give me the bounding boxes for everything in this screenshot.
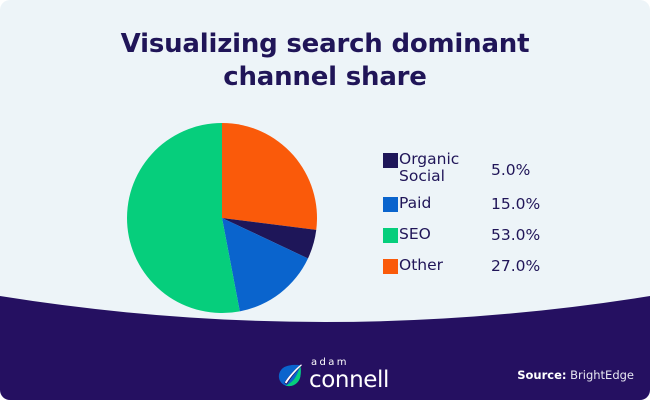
legend-item-other[interactable]: Other 27.0% xyxy=(383,257,563,277)
legend-item-paid[interactable]: Paid 15.0% xyxy=(383,195,563,215)
legend-item-organic-social[interactable]: Organic Social 5.0% xyxy=(383,151,563,186)
source-label: Source: xyxy=(517,368,566,382)
legend-value-paid: 15.0% xyxy=(491,195,540,213)
legend-swatch-other xyxy=(383,259,398,274)
chart-title: Visualizing search dominant channel shar… xyxy=(0,28,650,95)
legend-value-other: 27.0% xyxy=(491,257,540,275)
legend-label-seo: SEO xyxy=(398,226,491,243)
source-value: BrightEdge xyxy=(566,368,634,382)
legend-label-organic-social: Organic Social xyxy=(398,151,491,186)
infographic-card: Visualizing search dominant channel shar… xyxy=(0,0,650,400)
leaf-logo-icon xyxy=(277,362,304,389)
logo-text-connell: connell xyxy=(309,369,389,392)
legend-swatch-paid xyxy=(383,197,398,212)
brand-logo: adam connell xyxy=(277,358,389,392)
chart-legend: Organic Social 5.0% Paid 15.0% SEO 53.0%… xyxy=(383,151,563,288)
legend-label-other: Other xyxy=(398,257,491,274)
logo-wordmark: adam connell xyxy=(309,358,389,392)
legend-value-seo: 53.0% xyxy=(491,226,540,244)
legend-value-organic-social: 5.0% xyxy=(491,151,530,179)
legend-item-seo[interactable]: SEO 53.0% xyxy=(383,226,563,246)
source-attribution: Source: BrightEdge xyxy=(517,368,634,382)
legend-swatch-seo xyxy=(383,228,398,243)
pie-slice-other[interactable] xyxy=(222,123,317,230)
legend-label-paid: Paid xyxy=(398,195,491,212)
legend-swatch-organic-social xyxy=(383,153,398,168)
